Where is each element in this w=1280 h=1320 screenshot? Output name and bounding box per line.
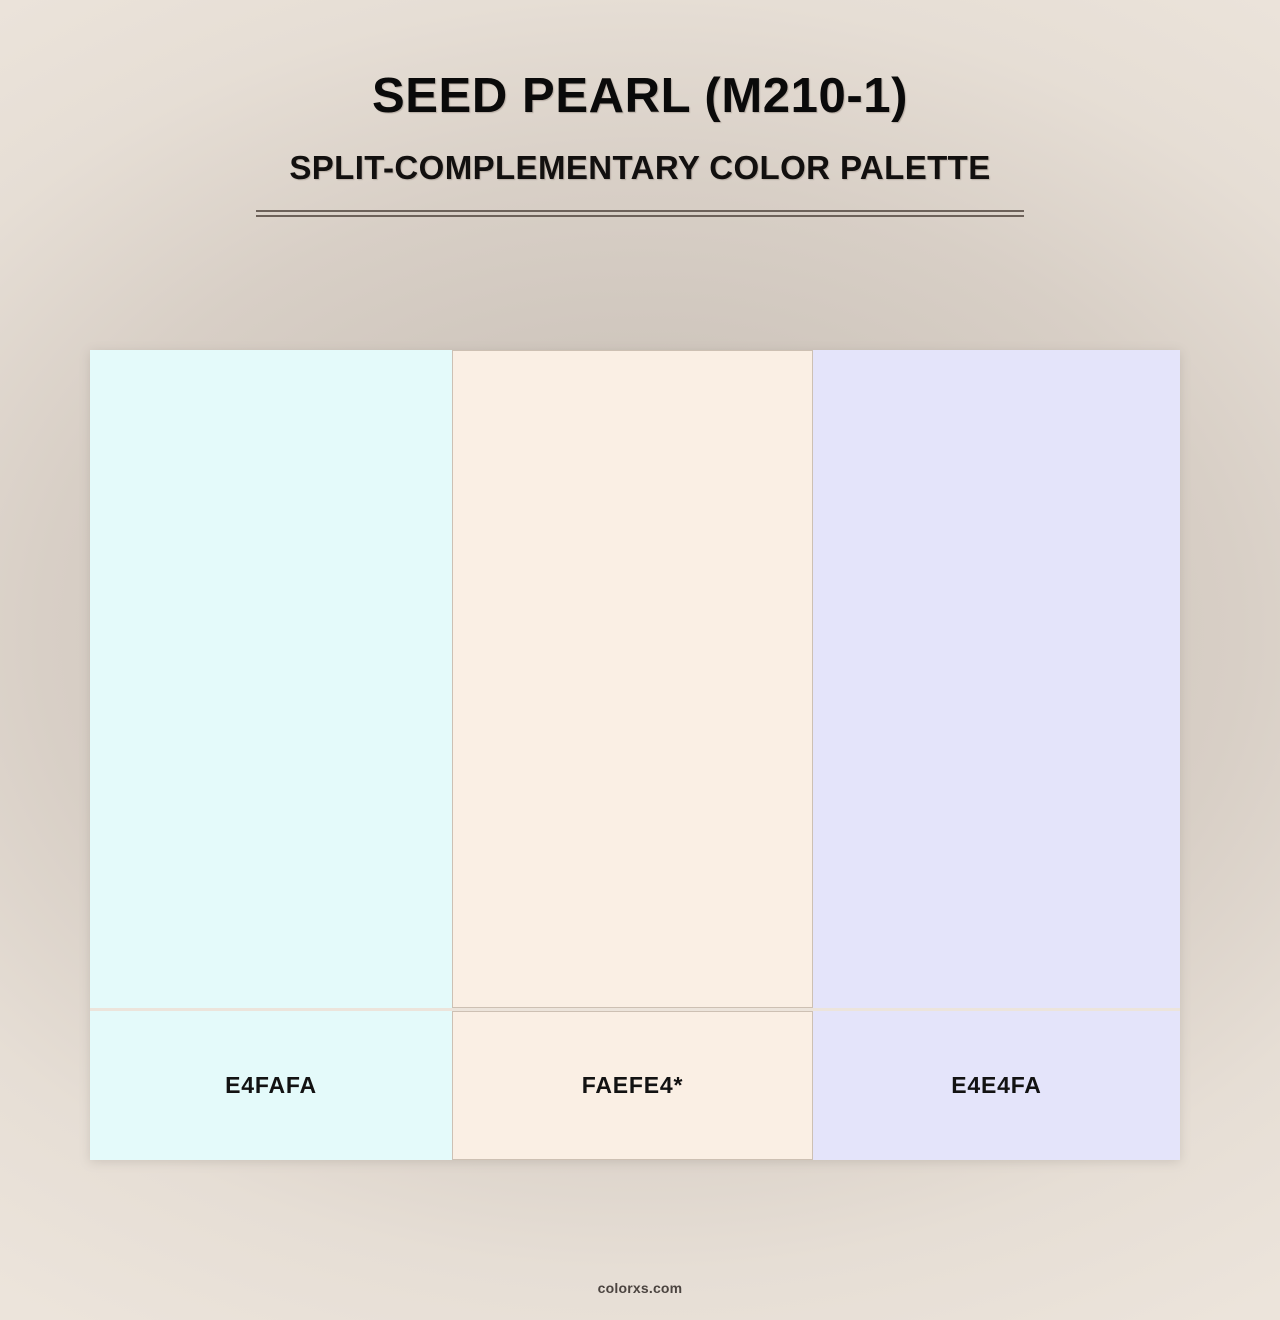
page-subtitle: SPLIT-COMPLEMENTARY COLOR PALETTE xyxy=(0,150,1280,186)
swatch-hex-label: E4E4FA xyxy=(951,1072,1041,1099)
color-palette: E4FAFA FAEFE4* E4E4FA xyxy=(90,350,1180,1160)
page-title: SEED PEARL (M210-1) xyxy=(0,70,1280,124)
color-swatch[interactable]: E4E4FA xyxy=(813,350,1180,1160)
color-swatch[interactable]: FAEFE4* xyxy=(452,350,813,1160)
divider-line-bottom xyxy=(256,215,1024,217)
swatch-color-area[interactable] xyxy=(452,350,813,1008)
site-credit: colorxs.com xyxy=(598,1280,683,1296)
page-header: SEED PEARL (M210-1) SPLIT-COMPLEMENTARY … xyxy=(0,0,1280,217)
title-divider xyxy=(256,210,1024,217)
swatch-label-strip: E4E4FA xyxy=(813,1011,1180,1160)
swatch-hex-label: FAEFE4* xyxy=(582,1072,683,1099)
swatch-color-area[interactable] xyxy=(813,350,1180,1008)
swatch-label-strip: E4FAFA xyxy=(90,1011,452,1160)
swatch-color-area[interactable] xyxy=(90,350,452,1008)
page-footer: colorxs.com xyxy=(0,1280,1280,1298)
color-swatch[interactable]: E4FAFA xyxy=(90,350,452,1160)
swatch-label-strip: FAEFE4* xyxy=(452,1011,813,1160)
swatch-hex-label: E4FAFA xyxy=(225,1072,317,1099)
